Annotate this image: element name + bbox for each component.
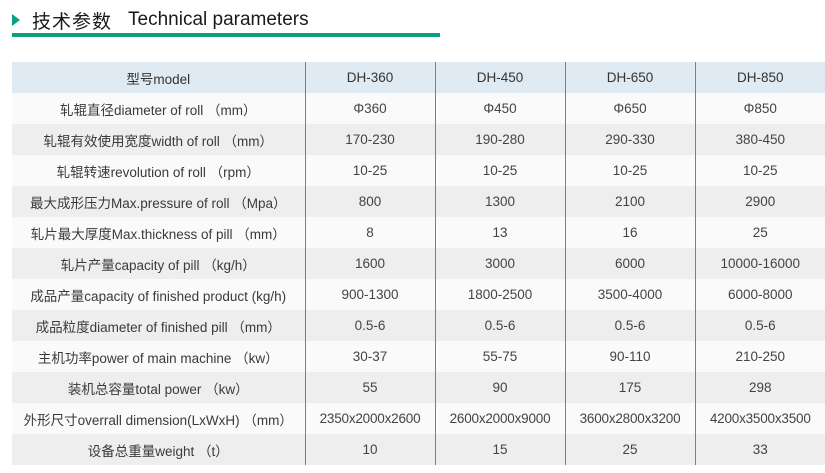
row-value-dh360: 0.5-6 — [305, 310, 435, 341]
row-value-dh650: 25 — [565, 434, 695, 465]
row-label: 主机功率power of main machine （kw） — [12, 341, 305, 372]
column-header-dh450: DH-450 — [435, 62, 565, 93]
row-value-dh450: 1800-2500 — [435, 279, 565, 310]
row-value-dh360: 800 — [305, 186, 435, 217]
page-title-en: Technical parameters — [128, 9, 309, 31]
row-value-dh450: 15 — [435, 434, 565, 465]
column-header-dh360: DH-360 — [305, 62, 435, 93]
header-underline — [12, 33, 440, 37]
row-value-dh650: 175 — [565, 372, 695, 403]
row-value-dh850: 298 — [695, 372, 825, 403]
row-value-dh360: 10 — [305, 434, 435, 465]
row-value-dh850: 380-450 — [695, 124, 825, 155]
row-label: 设备总重量weight （t） — [12, 434, 305, 465]
row-value-dh450: 10-25 — [435, 155, 565, 186]
table-row: 成品产量capacity of finished product (kg/h) … — [12, 279, 825, 310]
row-value-dh850: 210-250 — [695, 341, 825, 372]
triangle-right-icon — [12, 14, 20, 26]
row-value-dh650: 90-110 — [565, 341, 695, 372]
table-row: 轧片最大厚度Max.thickness of pill （mm） 8 13 16… — [12, 217, 825, 248]
row-value-dh360: 2350x2000x2600 — [305, 403, 435, 434]
row-value-dh450: 0.5-6 — [435, 310, 565, 341]
table-header-row: 型号model DH-360 DH-450 DH-650 DH-850 — [12, 62, 825, 93]
table-row: 主机功率power of main machine （kw） 30-37 55-… — [12, 341, 825, 372]
row-value-dh650: Φ650 — [565, 93, 695, 124]
technical-parameters-table: 型号model DH-360 DH-450 DH-650 DH-850 轧辊直径… — [12, 62, 825, 465]
row-value-dh650: 290-330 — [565, 124, 695, 155]
row-value-dh650: 2100 — [565, 186, 695, 217]
row-label: 最大成形压力Max.pressure of roll （Mpa） — [12, 186, 305, 217]
row-value-dh360: Φ360 — [305, 93, 435, 124]
table-row: 外形尺寸overrall dimension(LxWxH) （mm） 2350x… — [12, 403, 825, 434]
column-header-label: 型号model — [12, 62, 305, 93]
table-row: 最大成形压力Max.pressure of roll （Mpa） 800 130… — [12, 186, 825, 217]
row-value-dh650: 0.5-6 — [565, 310, 695, 341]
row-value-dh850: 2900 — [695, 186, 825, 217]
row-value-dh360: 10-25 — [305, 155, 435, 186]
row-value-dh360: 55 — [305, 372, 435, 403]
row-value-dh850: 33 — [695, 434, 825, 465]
row-value-dh650: 10-25 — [565, 155, 695, 186]
row-value-dh450: 55-75 — [435, 341, 565, 372]
technical-parameters-table-wrapper: 型号model DH-360 DH-450 DH-650 DH-850 轧辊直径… — [12, 62, 825, 465]
row-value-dh450: 1300 — [435, 186, 565, 217]
row-value-dh360: 900-1300 — [305, 279, 435, 310]
row-value-dh450: 2600x2000x9000 — [435, 403, 565, 434]
table-row: 轧辊有效使用宽度width of roll （mm） 170-230 190-2… — [12, 124, 825, 155]
column-header-dh850: DH-850 — [695, 62, 825, 93]
table-row: 轧片产量capacity of pill （kg/h） 1600 3000 60… — [12, 248, 825, 279]
row-value-dh360: 1600 — [305, 248, 435, 279]
section-header: 技术参数 Technical parameters — [0, 0, 825, 40]
row-label: 装机总容量total power （kw） — [12, 372, 305, 403]
table-row: 装机总容量total power （kw） 55 90 175 298 — [12, 372, 825, 403]
page-title-cn: 技术参数 — [32, 7, 112, 34]
row-value-dh850: 10000-16000 — [695, 248, 825, 279]
row-value-dh850: Φ850 — [695, 93, 825, 124]
row-label: 轧辊直径diameter of roll （mm） — [12, 93, 305, 124]
row-value-dh450: 190-280 — [435, 124, 565, 155]
row-label: 轧辊转速revolution of roll （rpm） — [12, 155, 305, 186]
table-row: 轧辊直径diameter of roll （mm） Φ360 Φ450 Φ650… — [12, 93, 825, 124]
row-value-dh850: 6000-8000 — [695, 279, 825, 310]
table-head: 型号model DH-360 DH-450 DH-650 DH-850 — [12, 62, 825, 93]
row-value-dh850: 0.5-6 — [695, 310, 825, 341]
row-value-dh850: 10-25 — [695, 155, 825, 186]
row-value-dh450: 3000 — [435, 248, 565, 279]
row-label: 外形尺寸overrall dimension(LxWxH) （mm） — [12, 403, 305, 434]
row-label: 成品产量capacity of finished product (kg/h) — [12, 279, 305, 310]
row-value-dh360: 170-230 — [305, 124, 435, 155]
row-value-dh850: 25 — [695, 217, 825, 248]
row-value-dh650: 6000 — [565, 248, 695, 279]
row-value-dh650: 16 — [565, 217, 695, 248]
row-value-dh450: Φ450 — [435, 93, 565, 124]
table-body: 轧辊直径diameter of roll （mm） Φ360 Φ450 Φ650… — [12, 93, 825, 465]
table-row: 轧辊转速revolution of roll （rpm） 10-25 10-25… — [12, 155, 825, 186]
row-value-dh650: 3500-4000 — [565, 279, 695, 310]
table-row: 成品粒度diameter of finished pill （mm） 0.5-6… — [12, 310, 825, 341]
row-value-dh450: 13 — [435, 217, 565, 248]
row-value-dh360: 8 — [305, 217, 435, 248]
row-value-dh650: 3600x2800x3200 — [565, 403, 695, 434]
column-header-dh650: DH-650 — [565, 62, 695, 93]
row-value-dh450: 90 — [435, 372, 565, 403]
row-label: 成品粒度diameter of finished pill （mm） — [12, 310, 305, 341]
row-label: 轧片最大厚度Max.thickness of pill （mm） — [12, 217, 305, 248]
row-label: 轧片产量capacity of pill （kg/h） — [12, 248, 305, 279]
row-value-dh360: 30-37 — [305, 341, 435, 372]
row-value-dh850: 4200x3500x3500 — [695, 403, 825, 434]
table-row: 设备总重量weight （t） 10 15 25 33 — [12, 434, 825, 465]
row-label: 轧辊有效使用宽度width of roll （mm） — [12, 124, 305, 155]
